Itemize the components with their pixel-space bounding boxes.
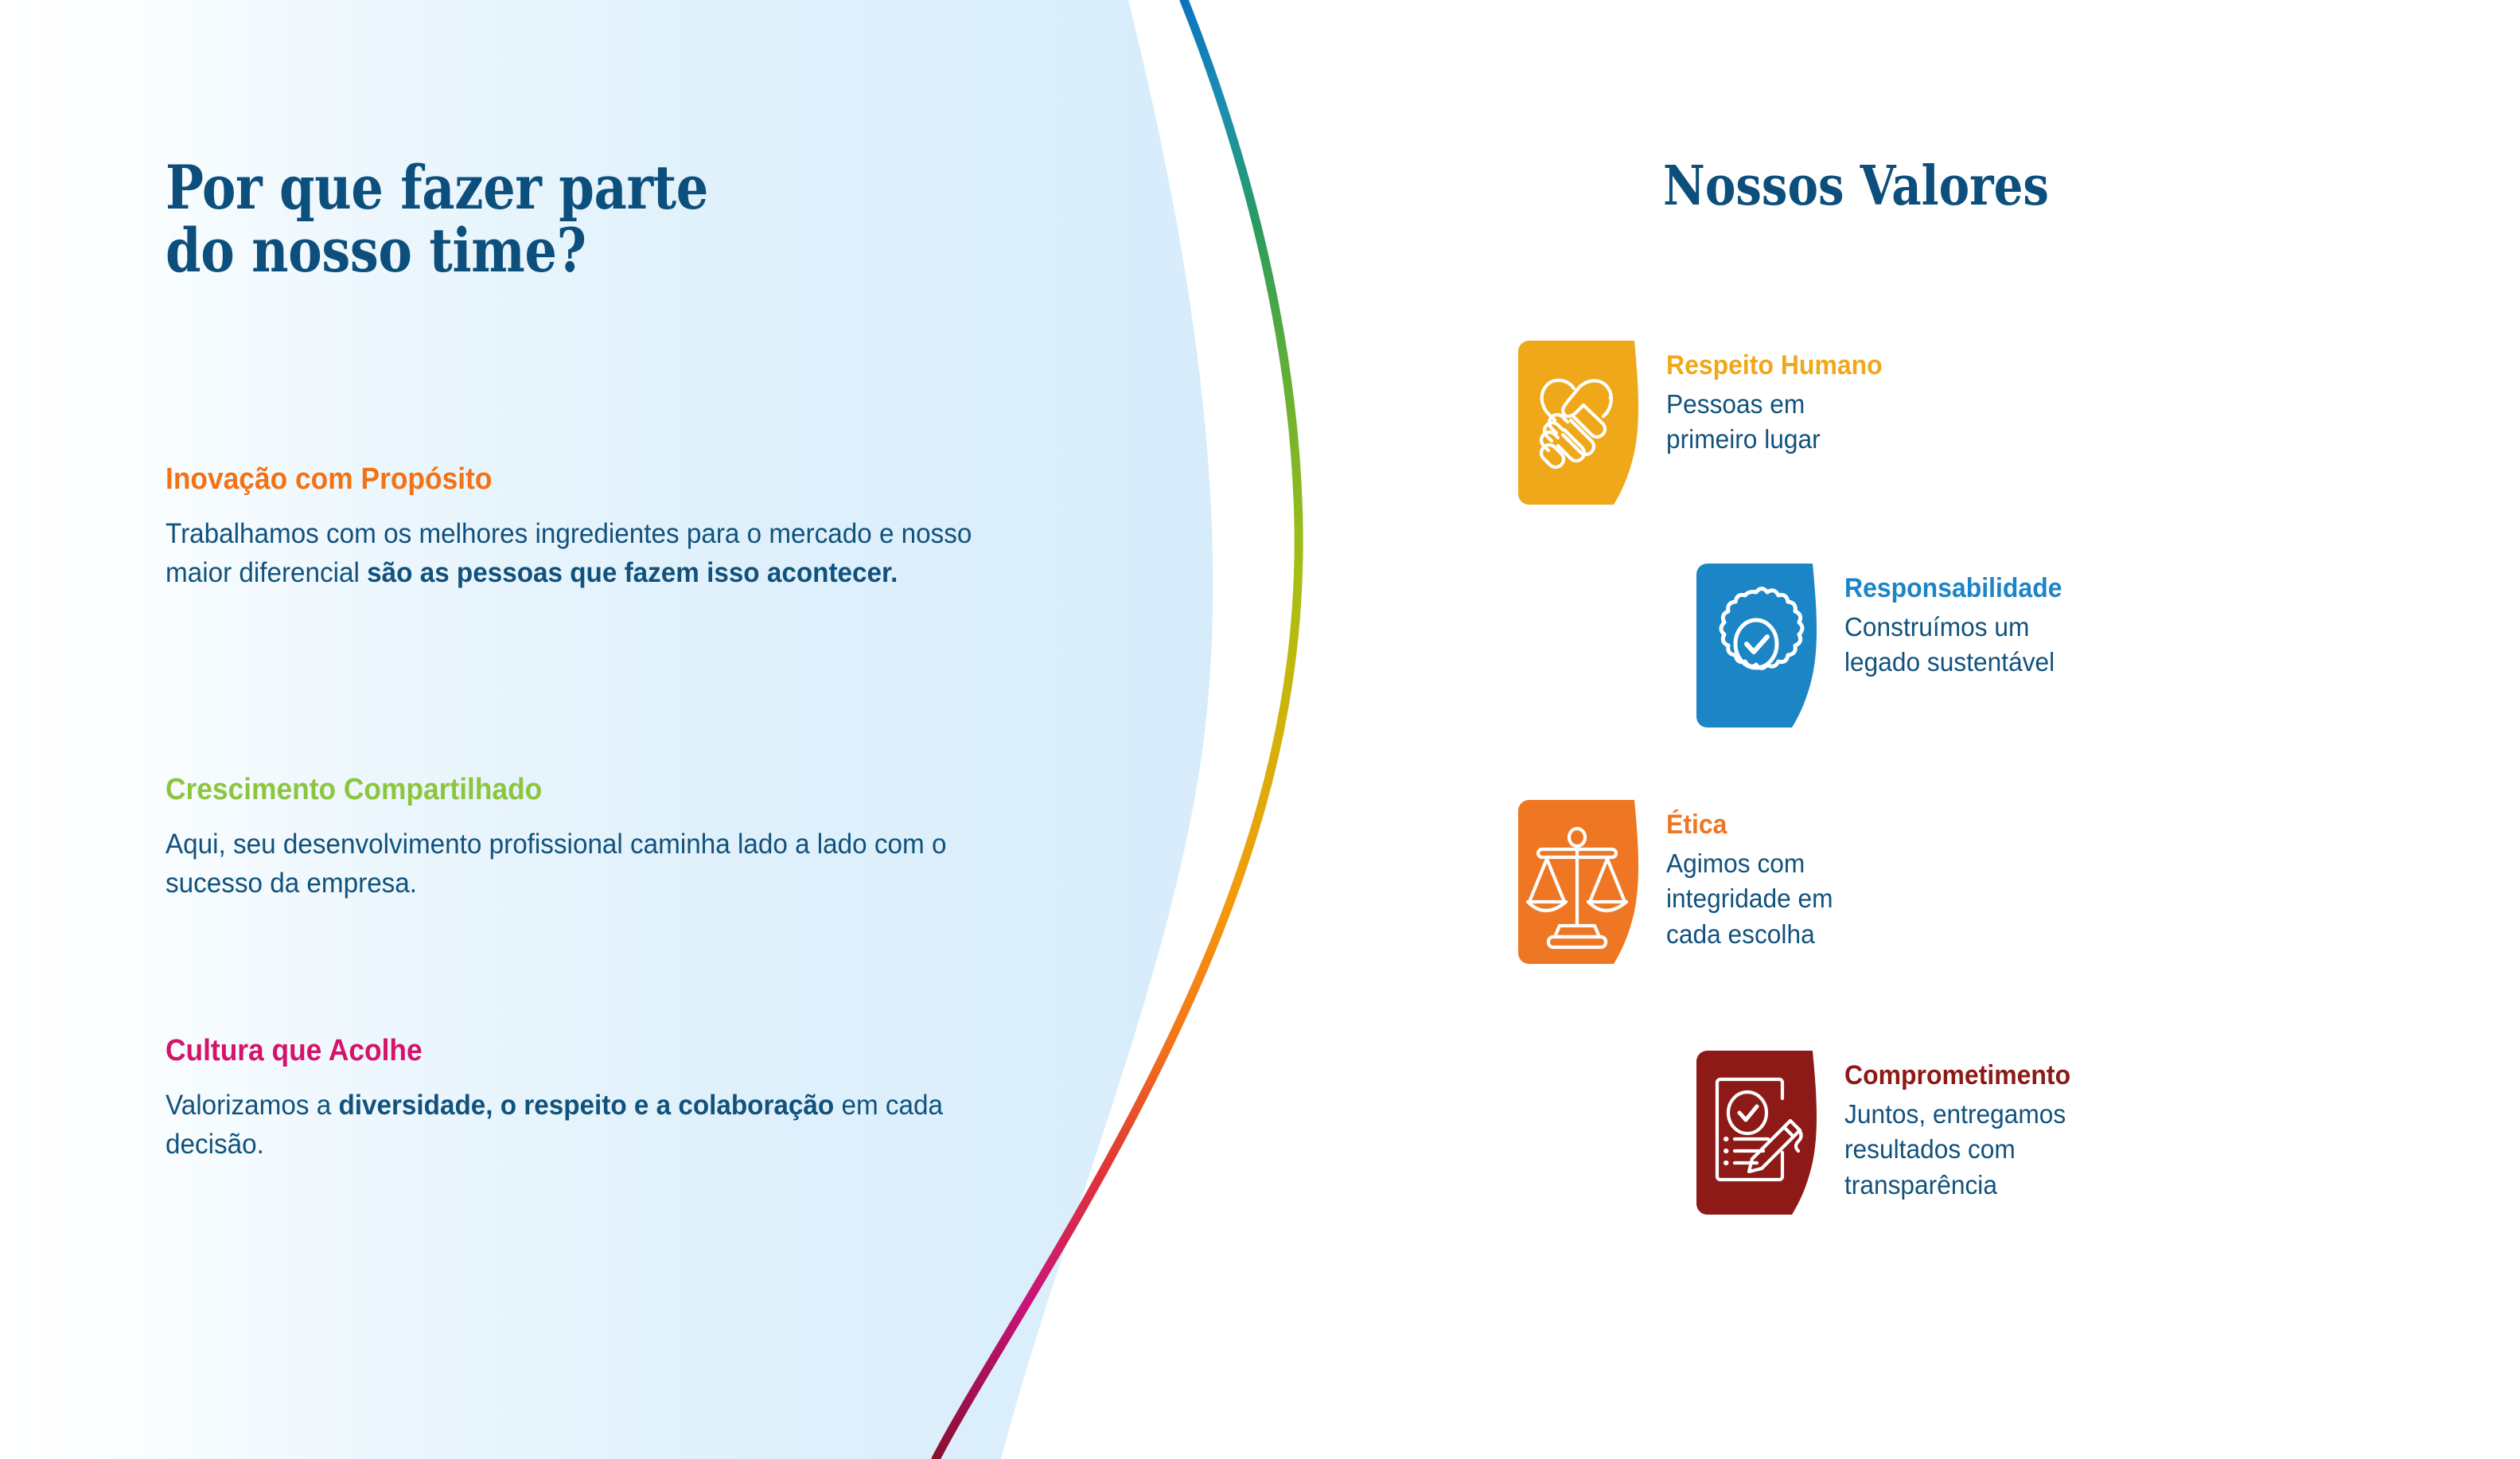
- value-section-crescimento: Crescimento Compartilhado Aqui, seu dese…: [166, 774, 1041, 903]
- card-text-comprometimento: Comprometimento Juntos, entregamos resul…: [1844, 1051, 2085, 1203]
- card-text-responsabilidade: Responsabilidade Construímos um legado s…: [1844, 564, 2076, 681]
- card-desc-responsabilidade: Construímos um legado sustentável: [1844, 610, 2066, 680]
- section-title-cultura: Cultura que Acolhe: [166, 1035, 980, 1068]
- card-desc-respeito-humano: Pessoas em primeiro lugar: [1666, 387, 1887, 457]
- values-column: Nossos Valores: [1488, 159, 2506, 213]
- badge-comprometimento: [1696, 1051, 1824, 1215]
- page-title: Por que fazer parte do nosso time?: [166, 156, 901, 282]
- left-content-column: Por que fazer parte do nosso time? Inova…: [166, 156, 1041, 282]
- section-body-cultura: Valorizamos a diversidade, o respeito e …: [166, 1086, 990, 1164]
- section-body-crescimento: Aqui, seu desenvolvimento profissional c…: [166, 825, 990, 903]
- card-title-respeito-humano: Respeito Humano: [1666, 350, 1883, 380]
- badge-respeito-humano: [1518, 341, 1646, 505]
- card-desc-comprometimento: Juntos, entregamos resultados com transp…: [1844, 1097, 2075, 1203]
- badge-etica: [1518, 800, 1646, 964]
- value-section-cultura: Cultura que Acolhe Valorizamos a diversi…: [166, 1035, 1041, 1164]
- values-title: Nossos Valores: [1663, 159, 2380, 213]
- badge-responsabilidade: [1696, 564, 1824, 728]
- value-card-comprometimento: Comprometimento Juntos, entregamos resul…: [1696, 1051, 2085, 1215]
- section-body-bold: são as pessoas que fazem isso acontecer.: [367, 557, 898, 588]
- section-title-crescimento: Crescimento Compartilhado: [166, 774, 980, 807]
- value-card-responsabilidade: Responsabilidade Construímos um legado s…: [1696, 564, 2076, 728]
- card-text-respeito-humano: Respeito Humano Pessoas em primeiro luga…: [1666, 341, 1896, 458]
- card-text-etica: Ética Agimos com integridade em cada esc…: [1666, 800, 1840, 952]
- value-section-inovacao: Inovação com Propósito Trabalhamos com o…: [166, 463, 1041, 593]
- section-body-inovacao: Trabalhamos com os melhores ingredientes…: [166, 514, 990, 593]
- value-card-respeito-humano: Respeito Humano Pessoas em primeiro luga…: [1518, 341, 1896, 505]
- card-title-comprometimento: Comprometimento: [1844, 1060, 2070, 1090]
- card-title-etica: Ética: [1666, 809, 1829, 840]
- card-title-responsabilidade: Responsabilidade: [1844, 573, 2062, 603]
- value-card-etica: Ética Agimos com integridade em cada esc…: [1518, 800, 1840, 964]
- section-body-bold: diversidade, o respeito e a colaboração: [338, 1090, 834, 1121]
- section-body-text: Aqui, seu desenvolvimento profissional c…: [166, 829, 946, 899]
- section-body-text: Valorizamos a: [166, 1090, 338, 1121]
- section-title-inovacao: Inovação com Propósito: [166, 463, 980, 497]
- card-desc-etica: Agimos com integridade em cada escolha: [1666, 846, 1833, 952]
